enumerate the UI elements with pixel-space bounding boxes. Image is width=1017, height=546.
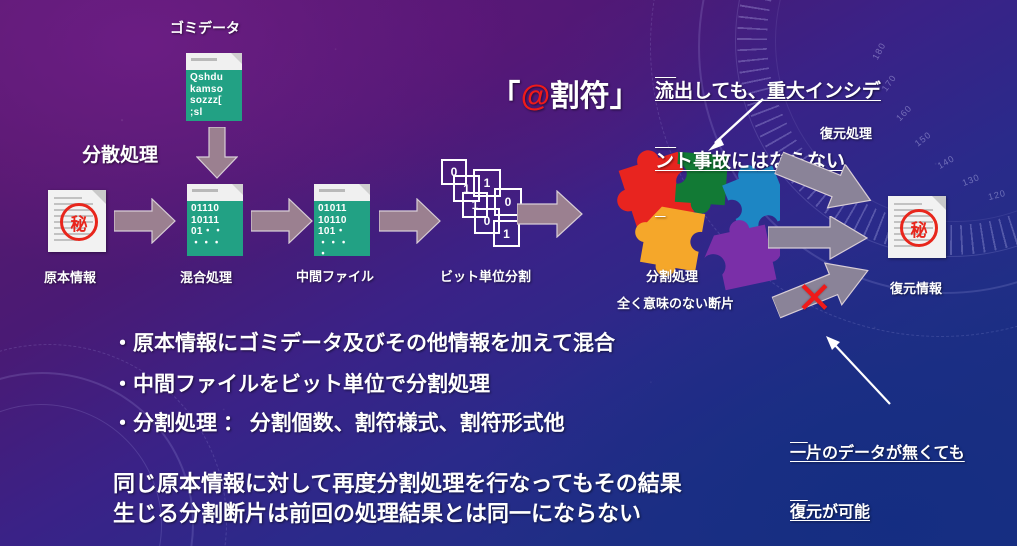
title-at-symbol: @ bbox=[520, 80, 549, 113]
page-fold-icon bbox=[232, 184, 243, 195]
missing-data-arrow-icon bbox=[820, 330, 900, 410]
bit-line: 01011 bbox=[314, 203, 370, 215]
bullet-item: ・原本情報にゴミデータ及びその他情報を加えて混合 bbox=[112, 331, 615, 357]
flow-caption-mix: 混合処理 bbox=[180, 270, 232, 286]
bit-line: ・・・ bbox=[314, 238, 370, 250]
bit-line: 10111 bbox=[187, 215, 243, 227]
document-body: Qshdu kamso sozzz[ ;sl bbox=[186, 70, 242, 121]
garbage-line: sozzz[ bbox=[186, 95, 242, 107]
arrow-original-to-mix bbox=[114, 198, 176, 244]
document-title-line bbox=[192, 189, 218, 192]
missing-data-annotation: 一片のデータが無くても 復元が可能 bbox=[790, 405, 965, 546]
arrow-down-to-mix bbox=[196, 127, 238, 179]
document-body: 01110 10111 01・・ ・・・ bbox=[187, 201, 243, 256]
document-header-strip bbox=[186, 53, 242, 70]
arrow-intermediate-to-bits bbox=[379, 198, 441, 244]
title-bracket-open: 「 bbox=[490, 80, 520, 113]
garbage-data-label: ゴミデータ bbox=[170, 20, 240, 37]
bullet-item: ・中間ファイルをビット単位で分割処理 bbox=[112, 372, 490, 398]
seal-character: 秘 bbox=[911, 216, 928, 241]
bit-box: 1 bbox=[493, 220, 520, 247]
flow-caption-original: 原本情報 bbox=[44, 270, 96, 286]
blocked-x-mark-icon: ✕ bbox=[796, 277, 833, 321]
flow-caption-split: 分割処理 bbox=[646, 269, 698, 285]
secret-seal-icon: 秘 bbox=[900, 209, 938, 247]
page-fold-icon bbox=[359, 184, 370, 195]
secret-seal-icon: 秘 bbox=[60, 203, 98, 241]
garbage-data-document-icon: Qshdu kamso sozzz[ ;sl bbox=[186, 53, 242, 121]
seal-character: 秘 bbox=[71, 210, 88, 235]
flow-caption-split-sub: 全く意味のない断片 bbox=[617, 296, 734, 312]
intermediate-file-document-icon: 01011 10110 101・ ・・・ ・ bbox=[314, 184, 370, 256]
bit-line: 101・ bbox=[314, 226, 370, 238]
document-header-strip bbox=[187, 184, 243, 201]
document-title-line bbox=[319, 189, 345, 192]
missing-data-line2: 復元が可能 bbox=[790, 503, 965, 523]
summary-line: 同じ原本情報に対して再度分割処理を行なってもその結果 bbox=[113, 471, 682, 498]
missing-data-line1: 一片のデータが無くても bbox=[790, 444, 965, 464]
distributed-process-label: 分散処理 bbox=[82, 144, 158, 167]
flow-caption-bit-split: ビット単位分割 bbox=[440, 269, 531, 285]
bit-line: 01・・ bbox=[187, 226, 243, 238]
mixed-data-document-icon: 01110 10111 01・・ ・・・ bbox=[187, 184, 243, 256]
garbage-line: ;sl bbox=[186, 107, 242, 119]
bullet-item: ・分割処理 ： 分割個数、割符様式、割符形式他 bbox=[112, 411, 565, 437]
restored-secret-document-icon: 秘 bbox=[888, 196, 946, 258]
flow-caption-intermediate: 中間ファイル bbox=[296, 269, 374, 285]
document-title-line bbox=[191, 58, 217, 61]
leak-annotation-arrow-icon bbox=[700, 95, 770, 155]
title-word: 割符」 bbox=[550, 80, 640, 113]
arrow-mix-to-intermediate bbox=[251, 198, 313, 244]
slide-canvas: 180 170 160 150 140 130 120 「@割符」 ゴミデータ … bbox=[0, 0, 1017, 546]
flow-caption-restored: 復元情報 bbox=[890, 281, 942, 297]
page-fold-icon bbox=[231, 53, 242, 64]
document-body: 01011 10110 101・ ・・・ ・ bbox=[314, 201, 370, 256]
bit-line: ・ bbox=[314, 249, 370, 261]
page-title: 「@割符」 bbox=[457, 42, 640, 152]
arrow-bits-to-puzzle bbox=[517, 190, 583, 238]
summary-line: 生じる分割断片は前回の処理結果とは同一にならない bbox=[113, 501, 641, 528]
garbage-line: kamso bbox=[186, 84, 242, 96]
restore-process-label: 復元処理 bbox=[820, 126, 872, 142]
bit-line: 10110 bbox=[314, 215, 370, 227]
bit-line: ・・・ bbox=[187, 238, 243, 250]
document-header-strip bbox=[314, 184, 370, 201]
original-secret-document-icon: 秘 bbox=[48, 190, 106, 252]
bit-line: 01110 bbox=[187, 203, 243, 215]
garbage-line: Qshdu bbox=[186, 72, 242, 84]
